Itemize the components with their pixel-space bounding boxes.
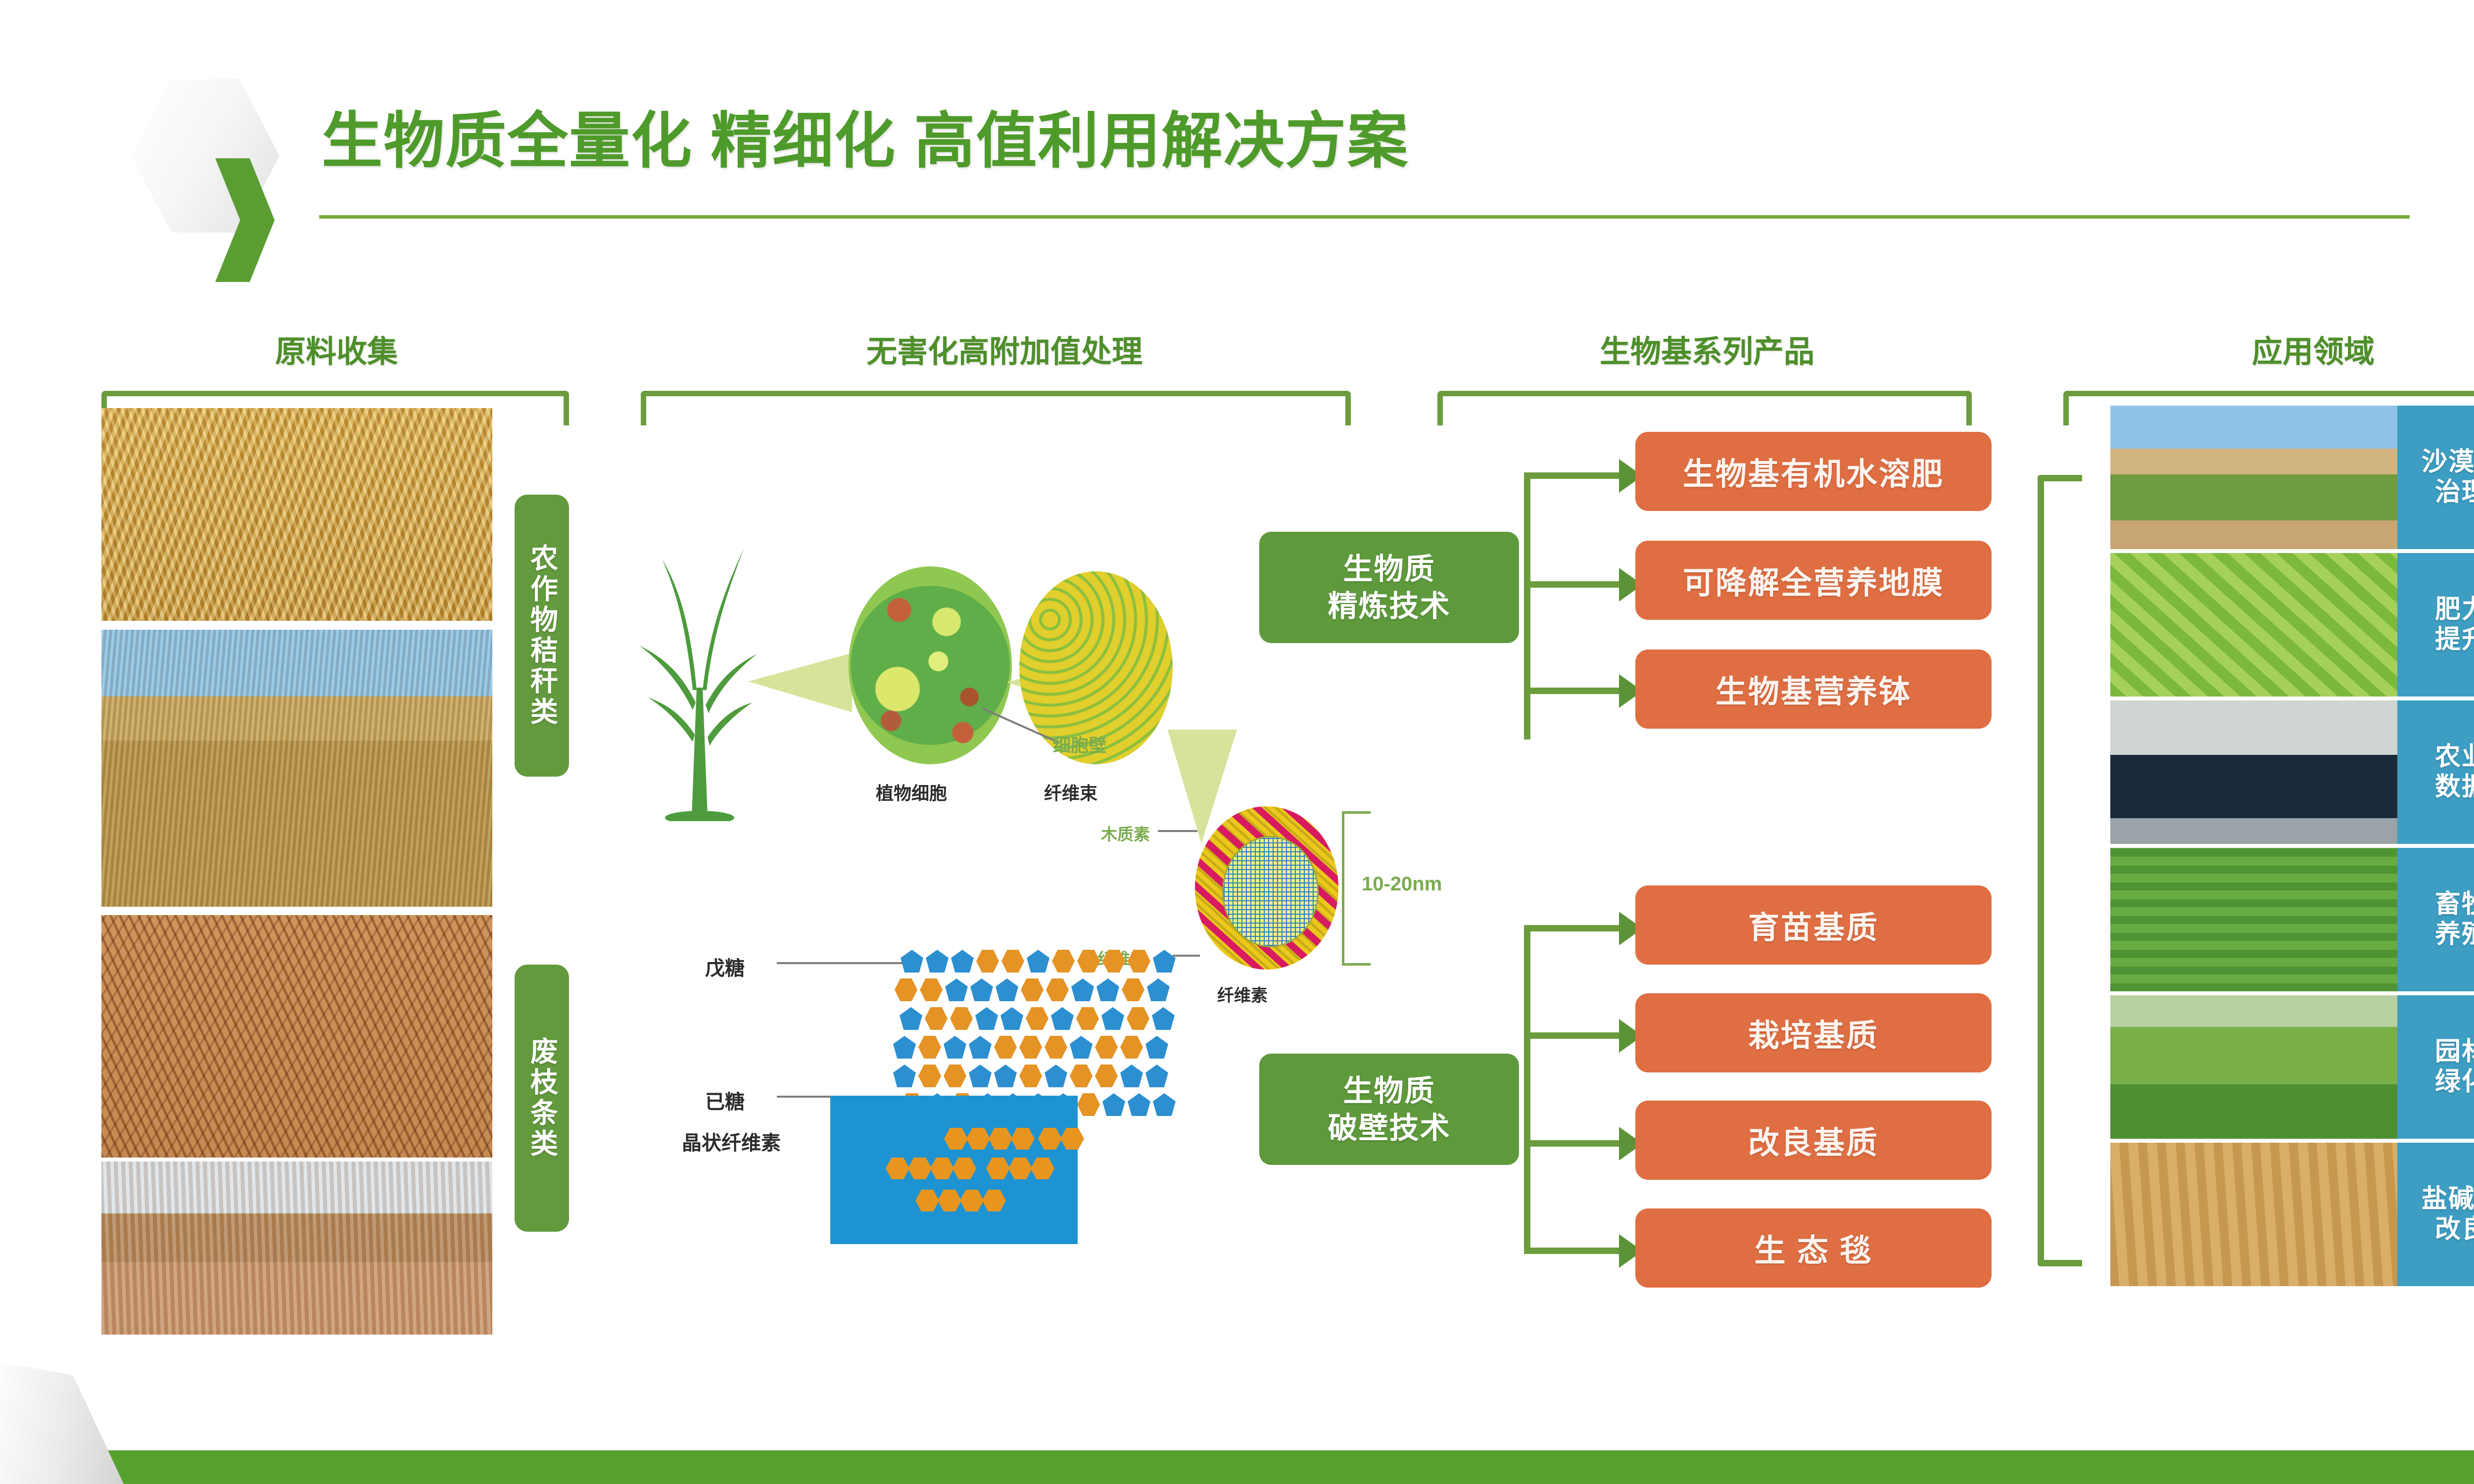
bracket-products (1437, 391, 1972, 425)
title-underline (319, 215, 2410, 219)
hexose-unit (1045, 1036, 1067, 1059)
sugar-chain-row (901, 950, 1176, 973)
hexose-unit (1070, 1065, 1093, 1087)
tech-breaking-line1: 生物质 (1343, 1072, 1435, 1110)
hemicellulose-leader-line (1173, 955, 1200, 957)
product-box-nutrient-pot[interactable]: 生物基营养钵 (1635, 649, 1992, 729)
footer-bar (99, 1450, 2474, 1484)
label-plant-cell: 植物细胞 (876, 779, 947, 805)
feedstock-tab-crop-straw[interactable]: 农作物秸秆类 (515, 495, 569, 777)
photo-saline-land (2110, 1143, 2397, 1286)
pentose-unit (1147, 978, 1170, 1001)
column-heading-processing: 无害化高附加值处理 (638, 326, 1371, 371)
application-row-fertility[interactable]: 肥力 提升 (2110, 553, 2474, 696)
application-row-agri-data[interactable]: 农业 数据 (2110, 700, 2474, 844)
pentose-unit (1096, 978, 1119, 1001)
product-box-cultivation-substrate[interactable]: 栽培基质 (1635, 993, 1992, 1072)
hexose-unit (1052, 950, 1075, 973)
pentose-unit (1045, 1065, 1067, 1087)
pentose-unit (1071, 978, 1094, 1001)
pentose-unit (893, 1036, 916, 1059)
hexose-unit (1095, 1065, 1118, 1087)
hexose-unit (976, 950, 999, 973)
photo-landscape-greening (2110, 995, 2397, 1139)
connector-branch-breaking-1 (1524, 925, 1623, 931)
pentose-unit (900, 1007, 922, 1030)
hexose-unit (918, 1036, 941, 1059)
hexagon-chevron-icon (131, 79, 339, 237)
dimension-tick-bottom (1342, 963, 1371, 966)
hexose-unit (1102, 950, 1125, 973)
pentose-unit (1153, 1093, 1176, 1116)
app-saline-line1: 盐碱地 (2422, 1184, 2474, 1214)
pentose-leader-line (777, 962, 903, 964)
hexose-unit (1122, 978, 1144, 1001)
hexose-unit (1026, 1007, 1048, 1030)
hexose-unit (950, 1007, 973, 1030)
hexose-unit (1021, 978, 1044, 1001)
bracket-processing (641, 391, 1351, 425)
tech-refining-line1: 生物质 (1343, 551, 1435, 588)
pentose-unit (1070, 1036, 1093, 1059)
cellulose-core (1222, 836, 1319, 947)
sugar-chain-row (893, 1065, 1168, 1087)
hexose-unit (994, 1036, 1017, 1059)
connector-branch-refining-2 (1524, 581, 1623, 588)
product-box-biodegradable-mulch-film[interactable]: 可降解全营养地膜 (1635, 541, 1992, 620)
tech-refining-line2: 精炼技术 (1328, 588, 1451, 625)
pentose-unit (1153, 950, 1176, 973)
hexose-unit (918, 1065, 941, 1087)
photo-cabbage-field (2110, 553, 2397, 696)
app-saline-line2: 改良 (2435, 1214, 2474, 1245)
pentose-unit (969, 1036, 992, 1059)
feedstock-tab-waste-branches[interactable]: 废枝条类 (515, 965, 569, 1232)
pentose-unit (1101, 1007, 1124, 1030)
pentose-unit (994, 1065, 1017, 1087)
app-desert-line2: 治理 (2435, 477, 2474, 508)
product-box-seedling-substrate[interactable]: 育苗基质 (1635, 885, 1992, 965)
label-crystalline-cellulose: 晶状纤维素 (682, 1127, 781, 1156)
pentose-unit (1152, 1007, 1175, 1030)
pentose-unit (1102, 1093, 1125, 1116)
product-box-improvement-substrate[interactable]: 改良基质 (1635, 1101, 1992, 1180)
connector-branch-refining-3 (1524, 688, 1623, 694)
label-hexose: 已糖 (705, 1086, 745, 1114)
pentose-unit (945, 978, 968, 1001)
label-cellulose: 纤维素 (1217, 982, 1268, 1006)
infographic-slide: 生物质全量化 精细化 高值利用解决方案 原料收集 无害化高附加值处理 生物基系列… (0, 0, 2474, 1484)
hexose-unit (1076, 1007, 1099, 1030)
app-garden-line2: 绿化 (2435, 1067, 2474, 1097)
hexose-unit (925, 1007, 948, 1030)
pentose-unit (1000, 1007, 1023, 1030)
connector-branch-refining-1 (1524, 472, 1623, 479)
connector-branch-breaking-4 (1524, 1248, 1623, 1254)
pentose-unit (975, 1007, 998, 1030)
sugar-chain-row (893, 1036, 1168, 1059)
hexose-unit (1077, 1093, 1100, 1116)
hexose-unit (1127, 1007, 1149, 1030)
pentose-unit (1051, 1007, 1074, 1030)
connector-branch-breaking-3 (1524, 1140, 1623, 1147)
application-label-saline-land: 盐碱地 改良 (2397, 1143, 2474, 1286)
app-livestock-line2: 养殖 (2435, 920, 2474, 950)
pentose-unit (901, 950, 923, 973)
label-fiber-dimension: 10-20nm (1362, 873, 1442, 895)
label-pentose: 戊糖 (705, 952, 745, 981)
product-box-water-soluble-fertilizer[interactable]: 生物基有机水溶肥 (1635, 432, 1992, 511)
hexose-unit (944, 1065, 966, 1087)
label-lignin: 木质素 (1101, 821, 1150, 845)
application-label-desertification: 沙漠化 治理 (2397, 406, 2474, 549)
pentose-unit (969, 1065, 992, 1087)
hexose-unit (1128, 950, 1150, 973)
magnify-cone-1 (748, 653, 852, 712)
column-heading-applications: 应用领域 (2078, 326, 2474, 371)
sugar-chain-row (895, 978, 1170, 1001)
dimension-bar (1342, 811, 1344, 966)
app-desert-line1: 沙漠化 (2422, 447, 2474, 477)
hexose-unit (1120, 1036, 1143, 1059)
pentose-unit (1128, 1093, 1150, 1116)
product-box-ecological-blanket[interactable]: 生 态 毯 (1635, 1208, 1992, 1288)
pentose-unit (996, 978, 1018, 1001)
photo-orchard-pruning (101, 1161, 492, 1335)
application-label-fertility: 肥力 提升 (2397, 553, 2474, 696)
pentose-unit (893, 1065, 916, 1087)
hexose-unit (1046, 978, 1069, 1001)
column-heading-products: 生物基系列产品 (1430, 326, 1984, 371)
app-garden-line1: 园林 (2435, 1037, 2474, 1067)
app-data-line1: 农业 (2435, 742, 2474, 772)
label-fiber-bundle: 纤维束 (1044, 779, 1097, 805)
pentose-unit (951, 950, 974, 973)
connector-branch-breaking-2 (1524, 1032, 1623, 1039)
bracket-to-applications (2038, 475, 2082, 1266)
dimension-tick-top (1342, 811, 1371, 814)
application-row-desertification[interactable]: 沙漠化 治理 (2110, 406, 2474, 549)
photo-baled-straw (101, 630, 492, 907)
hexose-unit (1019, 1036, 1042, 1059)
app-data-line2: 数据 (2435, 772, 2474, 802)
tech-breaking-line2: 破壁技术 (1328, 1110, 1451, 1147)
pentose-unit (1120, 1065, 1143, 1087)
tech-box-refining[interactable]: 生物质 精炼技术 (1259, 532, 1519, 643)
application-label-landscaping: 园林 绿化 (2397, 995, 2474, 1139)
photo-agri-data-center (2110, 700, 2397, 844)
app-fertility-line1: 肥力 (2435, 595, 2474, 625)
app-fertility-line2: 提升 (2435, 625, 2474, 655)
pentose-unit (1145, 1036, 1168, 1059)
column-heading-collection: 原料收集 (148, 326, 524, 371)
connector-trunk-refining (1524, 472, 1530, 740)
application-row-livestock[interactable]: 畜牧 养殖 (2110, 848, 2474, 991)
footer-corner-shape (0, 1360, 124, 1484)
photo-grazing-sheep (2110, 848, 2397, 991)
application-row-saline-land[interactable]: 盐碱地 改良 (2110, 1143, 2474, 1286)
hexose-unit (895, 978, 917, 1001)
application-row-landscaping[interactable]: 园林 绿化 (2110, 995, 2474, 1139)
connector-trunk-breaking (1524, 925, 1530, 1252)
hexose-unit (920, 978, 943, 1001)
hexose-unit (1019, 1065, 1042, 1087)
sugar-chain-row (900, 1007, 1175, 1030)
pentose-unit (1145, 1065, 1168, 1087)
hexose-unit (1095, 1036, 1118, 1059)
tech-box-cell-wall-breaking[interactable]: 生物质 破壁技术 (1259, 1054, 1519, 1165)
hexose-unit (1001, 950, 1024, 973)
pentose-unit (926, 950, 949, 973)
lignin-leader-line (1158, 830, 1197, 832)
pentose-unit (944, 1036, 966, 1059)
pentose-unit (1027, 950, 1049, 973)
photo-corn-straw (101, 408, 492, 621)
photo-dry-branches (101, 915, 492, 1158)
application-label-agri-data: 农业 数据 (2397, 700, 2474, 844)
pentose-unit (970, 978, 993, 1001)
app-livestock-line1: 畜牧 (2435, 889, 2474, 920)
label-cell-wall: 细胞壁 (1053, 731, 1106, 757)
plant-cell-illustration (849, 566, 1012, 764)
page-title: 生物质全量化 精细化 高值利用解决方案 (322, 92, 1409, 180)
application-label-livestock: 畜牧 养殖 (2397, 848, 2474, 991)
hexose-unit (1077, 950, 1100, 973)
grass-plant-icon (633, 539, 762, 821)
photo-desert-control (2110, 406, 2397, 549)
